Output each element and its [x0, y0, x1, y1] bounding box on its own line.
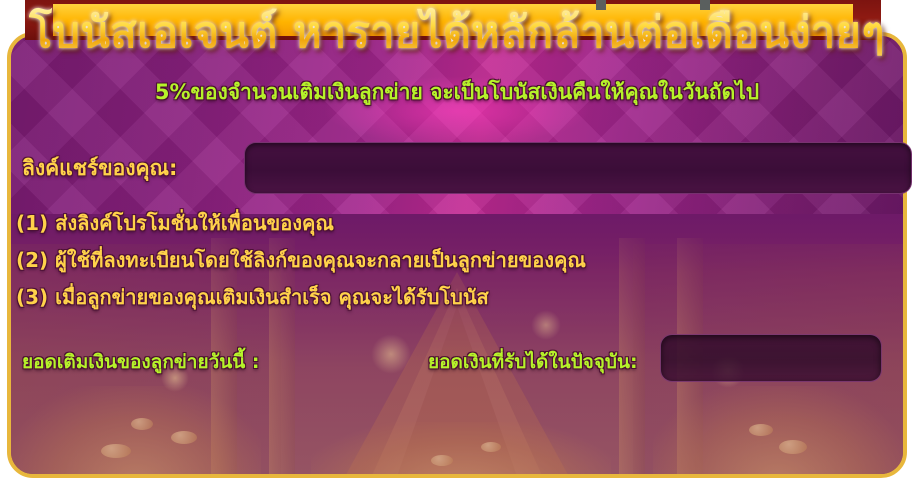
page-title-wrap: โบนัสเอเจนต์ หารายได้หลักล้านต่อเดือนง่า…	[0, 4, 914, 68]
step-text: ผู้ใช้ที่ลงทะเบียนโดยใช้ลิงก์ของคุณจะกลา…	[55, 248, 586, 272]
step-number: (1)	[16, 211, 48, 235]
promo-banner-page: โบนัสเอเจนต์ หารายได้หลักล้านต่อเดือนง่า…	[0, 0, 914, 484]
list-item: (1) ส่งลิงค์โปรโมชั่นให้เพื่อนของคุณ	[16, 205, 876, 242]
step-text: เมื่อลูกข่ายของคุณเติมเงินสำเร็จ คุณจะได…	[55, 285, 489, 309]
steps-list: (1) ส่งลิงค์โปรโมชั่นให้เพื่อนของคุณ (2)…	[16, 205, 876, 316]
current-income-input[interactable]	[660, 334, 882, 382]
step-number: (2)	[16, 248, 48, 272]
step-number: (3)	[16, 285, 48, 309]
totals-row: ยอดเติมเงินของลูกข่ายวันนี้ : ยอดเงินที่…	[0, 332, 914, 386]
current-income-label: ยอดเงินที่รับได้ในปัจจุบัน:	[428, 347, 638, 377]
page-subtitle: 5%ของจำนวนเติมเงินลูกข่าย จะเป็นโบนัสเงิ…	[0, 78, 914, 106]
share-link-input[interactable]	[244, 142, 912, 194]
step-text: ส่งลิงค์โปรโมชั่นให้เพื่อนของคุณ	[55, 211, 334, 235]
page-title: โบนัสเอเจนต์ หารายได้หลักล้านต่อเดือนง่า…	[29, 4, 885, 62]
list-item: (2) ผู้ใช้ที่ลงทะเบียนโดยใช้ลิงก์ของคุณจ…	[16, 242, 876, 279]
today-topup-label: ยอดเติมเงินของลูกข่ายวันนี้ :	[22, 347, 259, 377]
share-link-row: ลิงค์แชร์ของคุณ:	[22, 142, 892, 194]
list-item: (3) เมื่อลูกข่ายของคุณเติมเงินสำเร็จ คุณ…	[16, 279, 876, 316]
share-link-label: ลิงค์แชร์ของคุณ:	[22, 152, 177, 185]
